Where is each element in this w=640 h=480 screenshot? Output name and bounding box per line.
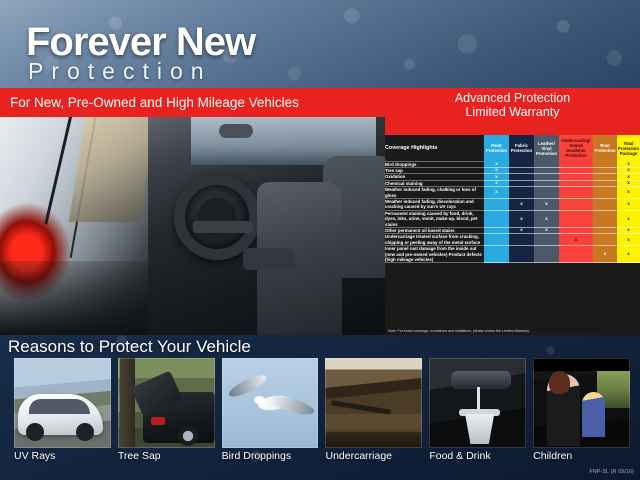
coverage-mark-cell	[593, 234, 617, 246]
tagline-text: For New, Pre-Owned and High Mileage Vehi…	[10, 95, 299, 110]
reason-label-food-and-drink: Food & Drink	[429, 450, 526, 466]
document-code-footnote: FNP-SL (R 09/16)	[589, 469, 634, 475]
coverage-mark-cell: x	[617, 246, 640, 263]
coverage-mark-cell	[484, 198, 509, 210]
reasons-photo-row	[14, 358, 630, 448]
reason-label-tree-sap: Tree Sap	[118, 450, 215, 466]
coverage-mark-cell	[593, 198, 617, 210]
coverage-mark-cell	[559, 246, 593, 263]
coverage-mark-cell	[484, 234, 509, 246]
coverage-mark-cell: x	[509, 210, 534, 227]
poster-page: Forever New Protection For New, Pre-Owne…	[0, 0, 640, 480]
column-header-leather-vinyl-protection: Leather/ Vinyl Protection	[534, 135, 559, 161]
coverage-mark-cell	[509, 187, 534, 199]
reason-photo-bird-droppings	[222, 358, 319, 448]
row-label: Weather induced fading, chalking or loss…	[385, 187, 484, 199]
reason-photo-uv-rays	[14, 358, 111, 448]
reason-photo-tree-sap	[118, 358, 215, 448]
coverage-mark-cell	[559, 187, 593, 199]
brand-title-primary: Forever New	[26, 22, 255, 62]
coverage-mark-cell	[534, 246, 559, 263]
coverage-mark-cell	[534, 234, 559, 246]
hero-photo-band	[0, 117, 385, 335]
coverage-mark-cell	[534, 187, 559, 199]
coverage-mark-cell: x	[617, 234, 640, 246]
column-header-coverage-highlights: Coverage Highlights	[385, 135, 484, 161]
table-row: Permanent staining caused by food, drink…	[385, 210, 640, 227]
coverage-mark-cell: x	[484, 187, 509, 199]
reason-label-children: Children	[533, 450, 630, 466]
coverage-mark-cell	[559, 198, 593, 210]
column-header-fabric-protection: Fabric Protection	[509, 135, 534, 161]
coverage-mark-cell	[559, 210, 593, 227]
photo-car-exterior	[0, 117, 148, 335]
photo-car-interior	[148, 117, 385, 335]
reasons-label-row: UV Rays Tree Sap Bird Droppings Undercar…	[14, 450, 630, 466]
coverage-mark-cell	[509, 234, 534, 246]
reason-photo-children	[533, 358, 630, 448]
coverage-table-grid: Coverage Highlights Paint Protection Fab…	[385, 135, 640, 263]
reason-label-undercarriage: Undercarriage	[325, 450, 422, 466]
coverage-mark-cell: x	[509, 198, 534, 210]
column-header-total-protection-package: Total Protection Package	[617, 135, 640, 161]
column-header-rust-protection: Rust Protection	[593, 135, 617, 161]
coverage-mark-cell	[484, 210, 509, 227]
coverage-mark-cell: x	[617, 210, 640, 227]
coverage-mark-cell: x	[534, 210, 559, 227]
row-label: Permanent staining caused by food, drink…	[385, 210, 484, 227]
column-header-paint-protection: Paint Protection	[484, 135, 509, 161]
header-banner: Forever New Protection	[0, 0, 640, 88]
coverage-mark-cell: x	[617, 187, 640, 199]
brand-title-secondary: Protection	[28, 60, 212, 83]
row-label: Weather induced fading, discoloration an…	[385, 198, 484, 210]
reason-label-bird-droppings: Bird Droppings	[222, 450, 319, 466]
coverage-mark-cell: x	[593, 246, 617, 263]
coverage-mark-cell: x	[617, 198, 640, 210]
row-label: Inner panel rust damage from the inside …	[385, 246, 484, 263]
warranty-title-line1: Advanced Protection	[385, 91, 640, 105]
table-row: Weather induced fading, chalking or loss…	[385, 187, 640, 199]
coverage-mark-cell: x	[559, 234, 593, 246]
tagline-bar: For New, Pre-Owned and High Mileage Vehi…	[0, 88, 385, 117]
warranty-title-line2: Limited Warranty	[385, 105, 640, 119]
coverage-table-body: Bird droppingsxxTree sapxxOxidationxxChe…	[385, 161, 640, 263]
row-label: Undercarriage treated surface from crack…	[385, 234, 484, 246]
coverage-table: Coverage Highlights Paint Protection Fab…	[385, 135, 640, 335]
table-row: Inner panel rust damage from the inside …	[385, 246, 640, 263]
column-header-undercoating-sound-deadener-protection: Undercoating/ Sound Deadener Protection	[559, 135, 593, 161]
reason-photo-food-and-drink	[429, 358, 526, 448]
table-row: Weather induced fading, discoloration an…	[385, 198, 640, 210]
reason-label-uv-rays: UV Rays	[14, 450, 111, 466]
reason-photo-undercarriage	[325, 358, 422, 448]
table-note: Note: For exact coverage, exclusions and…	[385, 327, 640, 335]
table-header-row: Coverage Highlights Paint Protection Fab…	[385, 135, 640, 161]
coverage-mark-cell	[593, 210, 617, 227]
coverage-mark-cell	[509, 246, 534, 263]
coverage-mark-cell: x	[534, 198, 559, 210]
coverage-mark-cell	[484, 246, 509, 263]
table-row: Undercarriage treated surface from crack…	[385, 234, 640, 246]
reasons-section-title: Reasons to Protect Your Vehicle	[8, 337, 251, 357]
warranty-title-bar: Advanced Protection Limited Warranty	[385, 88, 640, 135]
coverage-mark-cell	[593, 187, 617, 199]
